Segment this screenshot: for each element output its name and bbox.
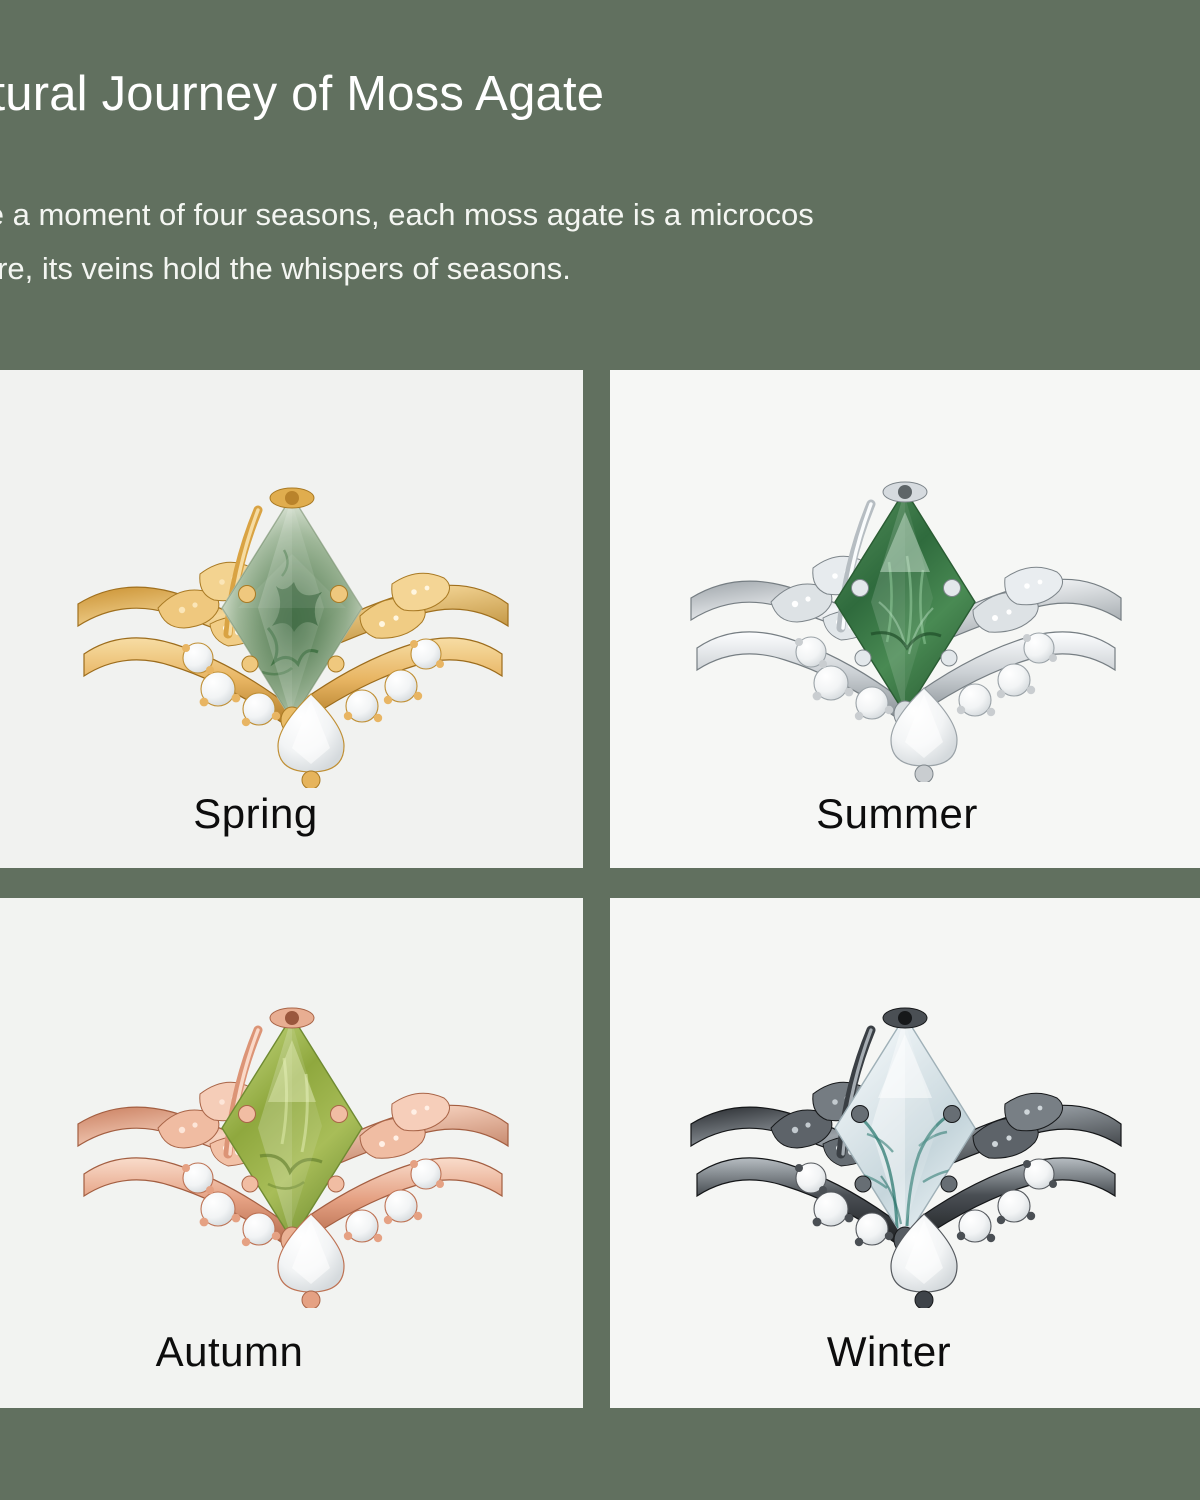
ring-illustration-autumn	[62, 978, 522, 1308]
season-label-summer: Summer	[610, 790, 1192, 838]
ring-illustration-summer	[675, 452, 1135, 782]
page-header: atural Journey of Moss Agate eze a momen…	[0, 0, 1200, 358]
season-card-spring[interactable]: Spring	[0, 370, 583, 868]
season-card-winter[interactable]: Winter	[610, 898, 1200, 1408]
ring-illustration-winter	[675, 978, 1135, 1308]
moss-agate-seasons-page: atural Journey of Moss Agate eze a momen…	[0, 0, 1200, 1500]
page-subtitle-line2: ature, its veins hold the whispers of se…	[0, 242, 1200, 296]
page-subtitle-line1: eze a moment of four seasons, each moss …	[0, 197, 814, 232]
season-label-winter: Winter	[610, 1328, 1184, 1376]
season-card-grid: Spring	[0, 370, 1200, 1408]
page-title: atural Journey of Moss Agate	[0, 66, 604, 122]
season-label-autumn: Autumn	[0, 1328, 521, 1376]
season-card-summer[interactable]: Summer	[610, 370, 1200, 868]
page-subtitle: eze a moment of four seasons, each moss …	[0, 188, 1200, 296]
season-card-autumn[interactable]: Autumn	[0, 898, 583, 1408]
season-label-spring: Spring	[0, 790, 547, 838]
ring-illustration-spring	[62, 458, 522, 788]
